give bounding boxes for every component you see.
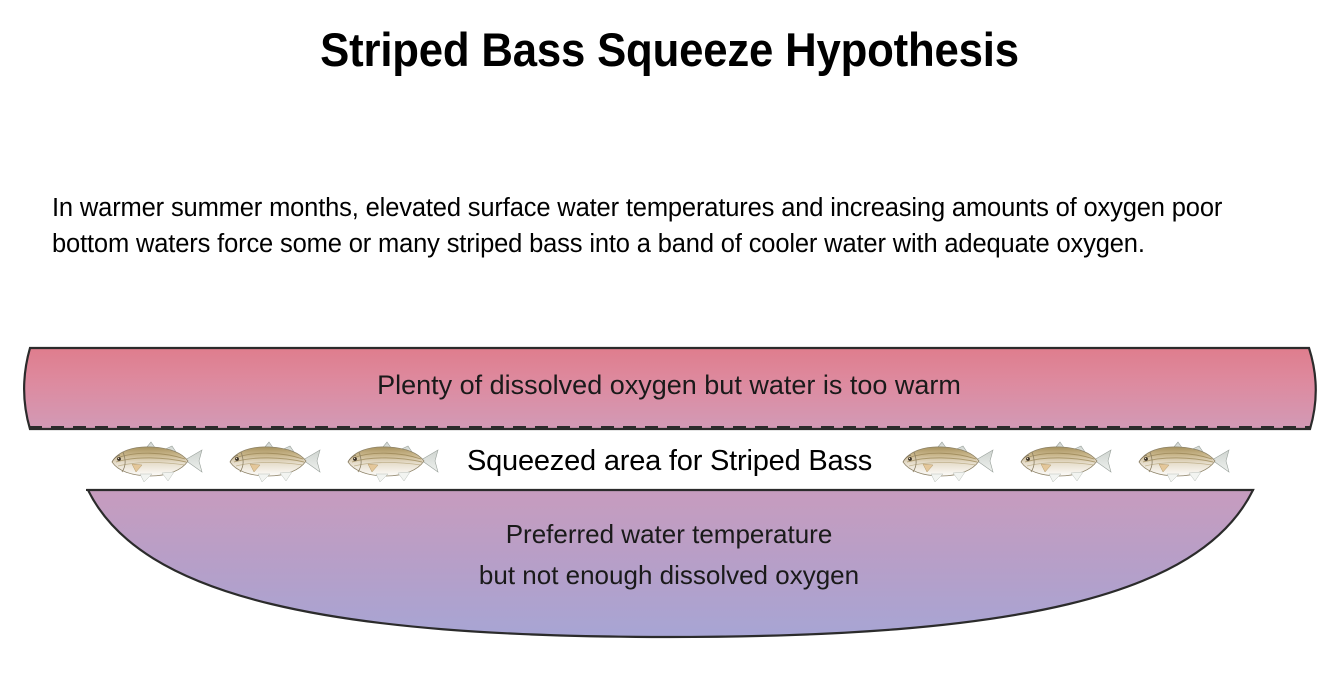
bottom-lens-label-line1: Preferred water temperature — [506, 519, 833, 549]
squeeze-diagram: Plenty of dissolved oxygen but water is … — [0, 330, 1339, 660]
striped-bass-icon — [897, 438, 997, 484]
slide-canvas: Striped Bass Squeeze Hypothesis In warme… — [0, 0, 1339, 692]
intro-paragraph: In warmer summer months, elevated surfac… — [52, 190, 1292, 262]
squeezed-area-label: Squeezed area for Striped Bass — [451, 444, 888, 478]
striped-bass-icon — [1133, 438, 1233, 484]
striped-bass-icon — [342, 438, 442, 484]
squeezed-area-row: Squeezed area for Striped Bass — [0, 434, 1339, 488]
bottom-cold-lens: Preferred water temperature but not enou… — [86, 490, 1254, 637]
top-warm-band: Plenty of dissolved oxygen but water is … — [24, 348, 1316, 429]
page-title: Striped Bass Squeeze Hypothesis — [47, 22, 1292, 78]
top-band-label: Plenty of dissolved oxygen but water is … — [377, 370, 961, 400]
striped-bass-icon — [224, 438, 324, 484]
striped-bass-icon — [106, 438, 206, 484]
bottom-lens-label-line2: but not enough dissolved oxygen — [479, 560, 859, 590]
striped-bass-icon — [1015, 438, 1115, 484]
